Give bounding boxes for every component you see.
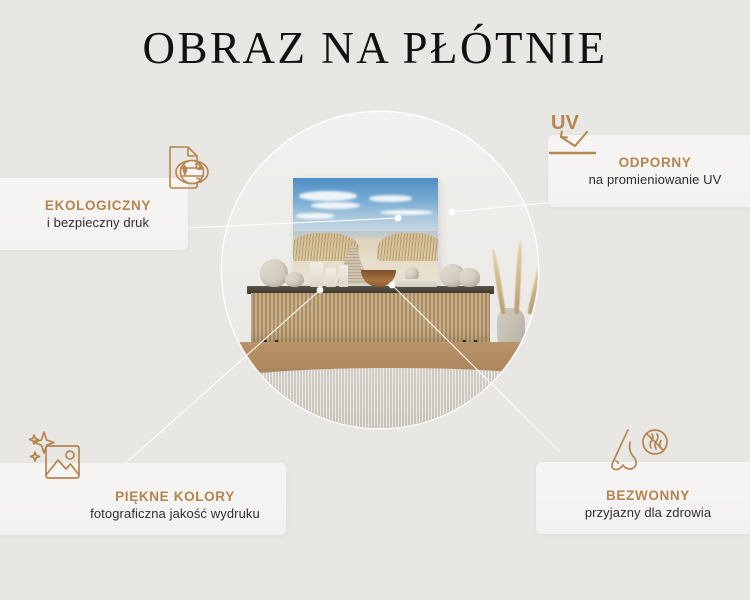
decor-book-stack xyxy=(396,279,437,287)
decor-bowl-small xyxy=(285,272,304,288)
room-rug xyxy=(222,368,538,428)
artwork-cloud xyxy=(311,202,360,209)
artwork-cloud xyxy=(299,191,357,201)
eco-document-globe-icon xyxy=(158,143,212,202)
decor-vase xyxy=(459,268,480,287)
decor-candle xyxy=(310,262,323,287)
nose-no-smell-icon xyxy=(604,424,670,487)
feature-text-odorless: BEZWONNY przyjazny dla zdrowia xyxy=(548,488,748,522)
uv-icon-label: UV xyxy=(551,112,579,134)
feature-title-eco: EKOLOGICZNY xyxy=(18,198,178,215)
infographic-stage: OBRAZ NA PŁÓTNIE xyxy=(0,0,750,600)
feature-subtitle-eco: i bezpieczny druk xyxy=(18,215,178,232)
decor-candle xyxy=(339,265,348,287)
feature-subtitle-odorless: przyjazny dla zdrowia xyxy=(548,505,748,522)
artwork-dune-grass-right xyxy=(377,233,438,261)
decor-candle xyxy=(326,268,335,287)
artwork-cloud xyxy=(296,213,334,218)
artwork-cloud xyxy=(369,195,413,201)
feature-subtitle-colors: fotograficzna jakość wydruku xyxy=(75,506,275,523)
decor-vase xyxy=(260,259,288,287)
photo-sparkle-icon xyxy=(27,430,89,493)
feature-subtitle-uv: na promieniowanie UV xyxy=(560,172,750,189)
interior-scene xyxy=(222,112,538,428)
feature-title-colors: PIĘKNE KOLORY xyxy=(75,489,275,506)
feature-title-uv: ODPORNY xyxy=(560,155,750,172)
feature-text-uv: ODPORNY na promieniowanie UV xyxy=(560,155,750,189)
feature-text-colors: PIĘKNE KOLORY fotograficzna jakość wydru… xyxy=(75,489,275,523)
feature-text-eco: EKOLOGICZNY i bezpieczny druk xyxy=(18,198,178,232)
sideboard-fluted-front xyxy=(251,293,490,343)
page-title: OBRAZ NA PŁÓTNIE xyxy=(0,26,750,71)
feature-title-odorless: BEZWONNY xyxy=(548,488,748,505)
hero-product-photo xyxy=(222,112,538,428)
